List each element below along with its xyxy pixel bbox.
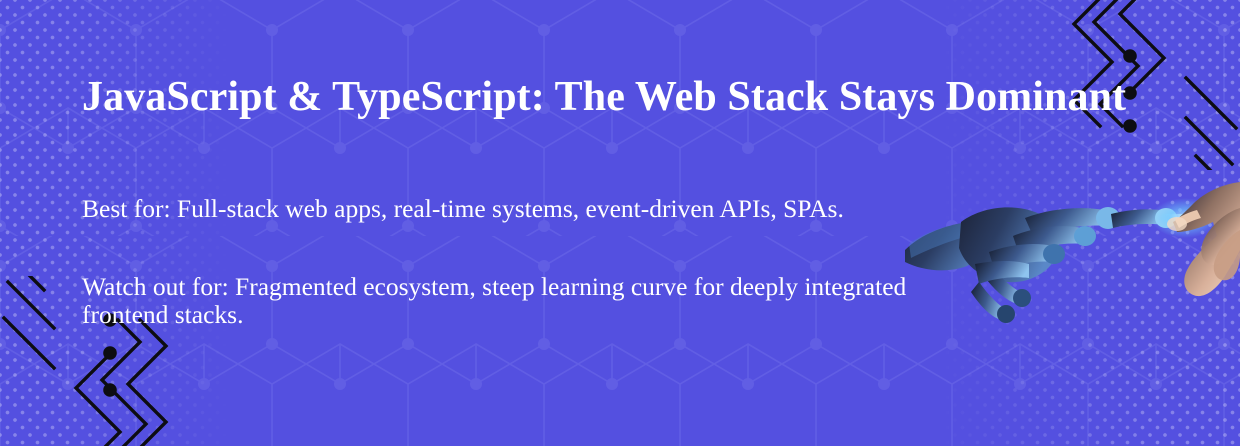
banner: JavaScript & TypeScript: The Web Stack S…	[0, 0, 1240, 446]
page-title: JavaScript & TypeScript: The Web Stack S…	[82, 74, 1126, 120]
banner-content: JavaScript & TypeScript: The Web Stack S…	[0, 0, 1240, 446]
best-for-text: Best for: Full-stack web apps, real-time…	[82, 195, 982, 223]
watch-out-for-text: Watch out for: Fragmented ecosystem, ste…	[82, 273, 982, 329]
